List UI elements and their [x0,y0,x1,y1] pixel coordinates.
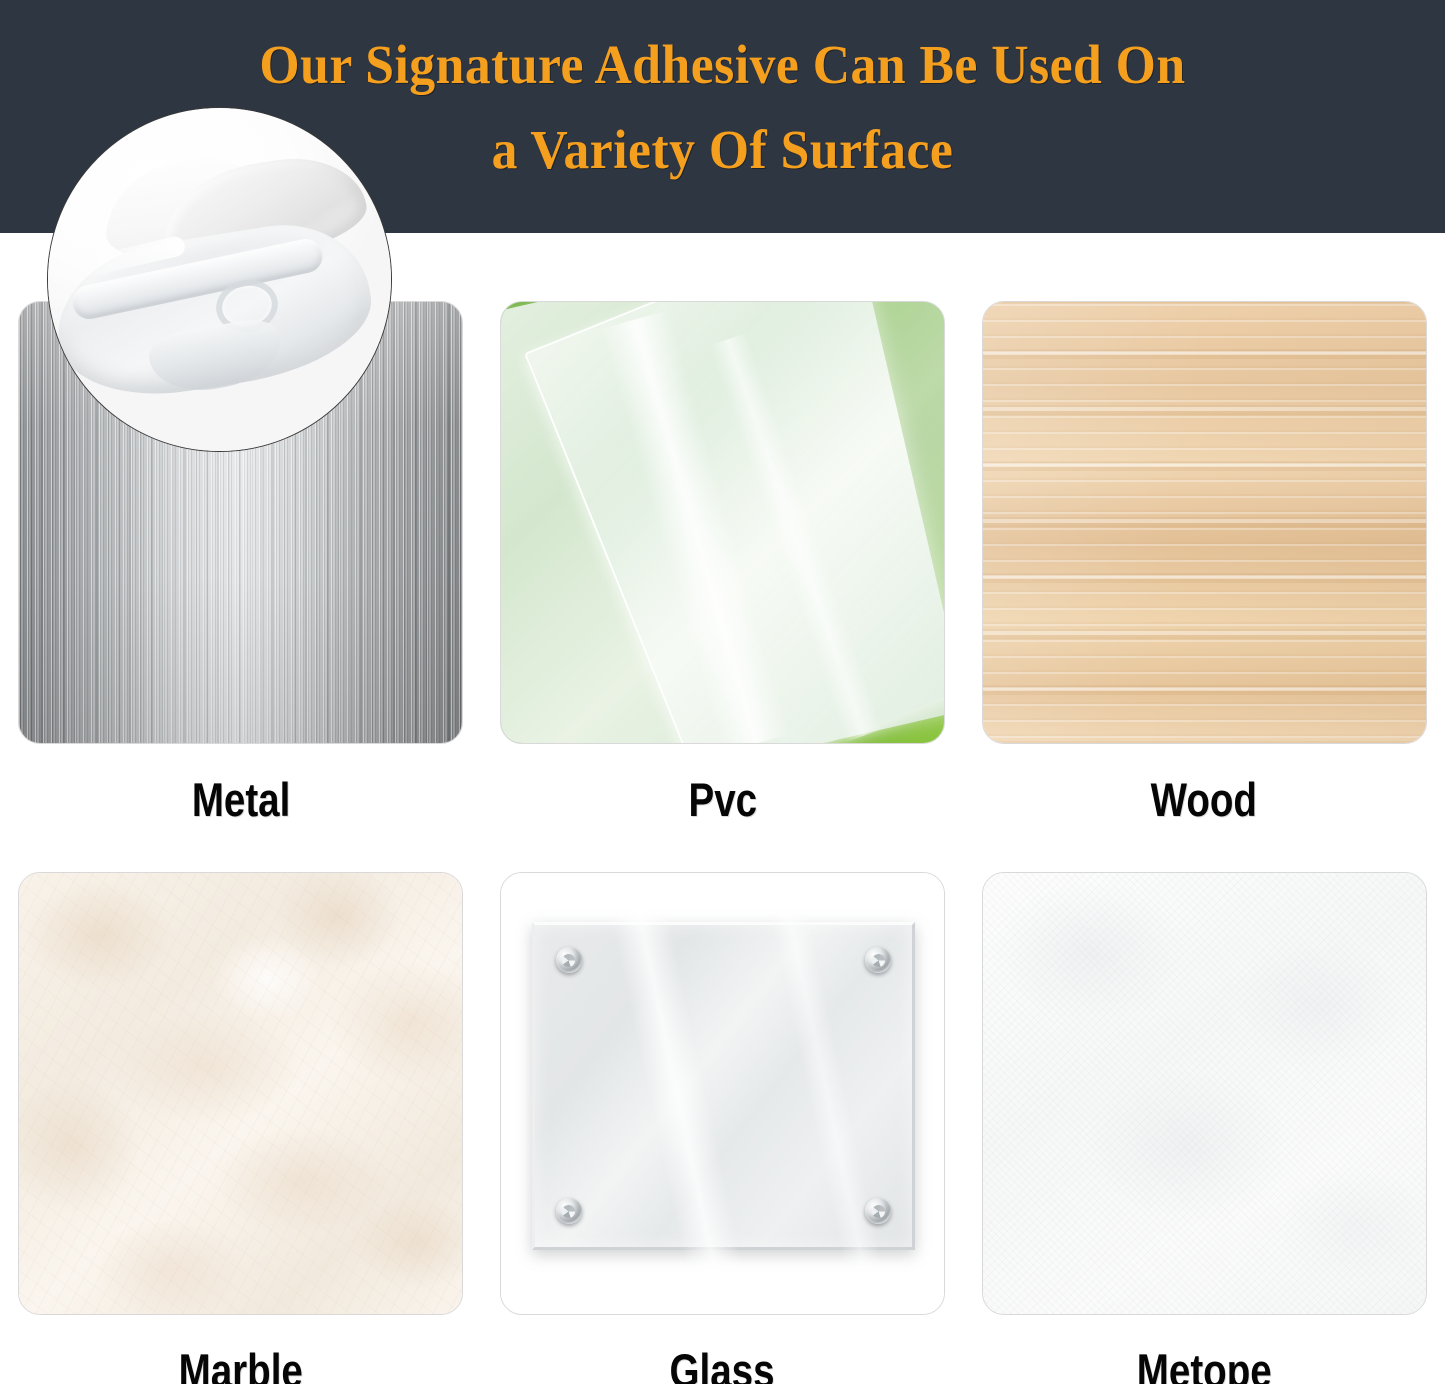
surface-label-marble: Marble [179,1343,303,1384]
metope-wall-texture [983,873,1426,1314]
surface-label-wood: Wood [1151,772,1257,827]
clear-pvc-sheet-swatch [500,301,945,744]
surface-cell-marble: Marble [0,827,482,1384]
marble-texture [19,873,462,1314]
surface-cell-metope: Metope [963,827,1445,1384]
surface-cell-wood: Wood [963,233,1445,827]
glass-sheen [609,897,743,1281]
light-wood-swatch [982,301,1427,744]
surface-label-metope: Metope [1137,1343,1272,1384]
glass-standoff-screw-bottom-left [556,1198,582,1224]
surface-cell-glass: Glass [482,827,964,1384]
product-photo-circle [47,107,392,452]
glass-panel-swatch [500,872,945,1315]
surface-label-metal: Metal [192,772,291,827]
wood-grain-texture [983,302,1426,743]
surface-cell-pvc: Pvc [482,233,964,827]
glass-standoff-screw-top-left [556,947,582,973]
surface-label-glass: Glass [670,1343,775,1384]
cream-marble-swatch [18,872,463,1315]
glass-standoff-screw-top-right [865,947,891,973]
white-wall-swatch [982,872,1427,1315]
glass-panel [532,922,915,1251]
glass-standoff-screw-bottom-right [865,1198,891,1224]
surface-label-pvc: Pvc [688,772,757,827]
surface-compatibility-infographic: Our Signature Adhesive Can Be Used On a … [0,0,1445,1384]
